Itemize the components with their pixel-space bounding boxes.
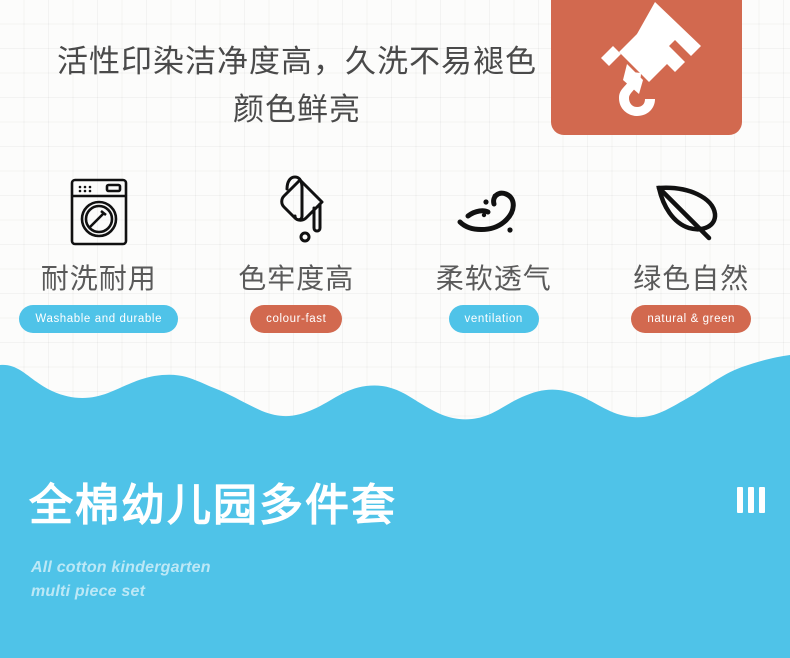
bar-2 bbox=[748, 487, 754, 513]
banner-subtitle: All cotton kindergarten multi piece set bbox=[31, 556, 211, 604]
feature-title: 色牢度高 bbox=[238, 262, 354, 296]
banner-title: 全棉幼儿园多件套 bbox=[29, 478, 397, 534]
paint-feature-card bbox=[551, 0, 742, 135]
breeze-wind-icon bbox=[454, 172, 534, 252]
feature-title: 柔软透气 bbox=[436, 262, 552, 296]
feature-row: 耐洗耐用 Washable and durable 色牢度高 colour-fa… bbox=[0, 172, 790, 347]
feature-item: 绿色自然 natural & green bbox=[593, 172, 790, 347]
page-headline: 活性印染洁净度高，久洗不易褪色 颜色鲜亮 bbox=[42, 38, 552, 134]
washing-machine-icon bbox=[68, 172, 130, 252]
feature-pill: ventilation bbox=[449, 305, 539, 333]
product-detail-page: 活性印染洁净度高，久洗不易褪色 颜色鲜亮 bbox=[0, 0, 790, 658]
feature-item: 色牢度高 colour-fast bbox=[198, 172, 396, 347]
three-bars-icon bbox=[737, 487, 765, 513]
bar-1 bbox=[737, 487, 743, 513]
paint-bucket-icon bbox=[264, 172, 328, 252]
feature-pill: colour-fast bbox=[250, 305, 342, 333]
feature-item: 柔软透气 ventilation bbox=[395, 172, 593, 347]
leaf-icon bbox=[651, 172, 731, 252]
feature-pill: Washable and durable bbox=[19, 305, 178, 333]
feature-title: 耐洗耐用 bbox=[41, 262, 157, 296]
feature-title: 绿色自然 bbox=[633, 262, 749, 296]
feature-pill: natural & green bbox=[631, 305, 751, 333]
bar-3 bbox=[759, 487, 765, 513]
feature-item: 耐洗耐用 Washable and durable bbox=[0, 172, 198, 347]
